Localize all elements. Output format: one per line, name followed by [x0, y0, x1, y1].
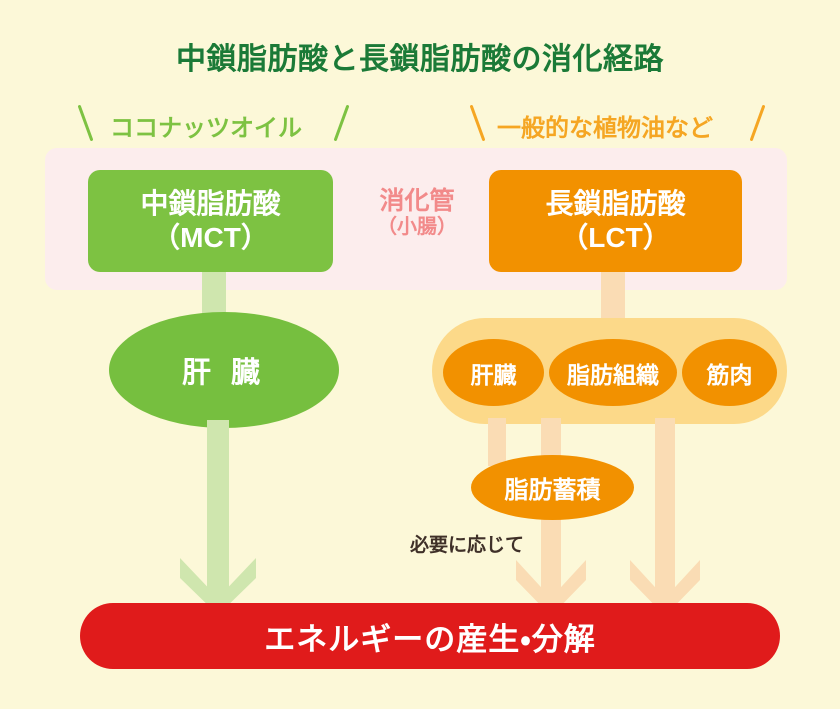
arrow-orange-liver-stub	[488, 418, 506, 466]
node-energy-output: エネルギーの産生・分解	[80, 603, 780, 669]
label-as-needed: 必要に応じて	[410, 530, 524, 557]
node-fat-storage: 脂肪蓄積	[471, 455, 634, 520]
arrow-orange-right-to-energy	[630, 418, 700, 616]
diagram-canvas: 中鎖脂肪酸と長鎖脂肪酸の消化経路 ココナッツオイル 一般的な植物油など 消化管 …	[0, 0, 840, 709]
arrow-green-liver-to-energy	[180, 420, 256, 615]
